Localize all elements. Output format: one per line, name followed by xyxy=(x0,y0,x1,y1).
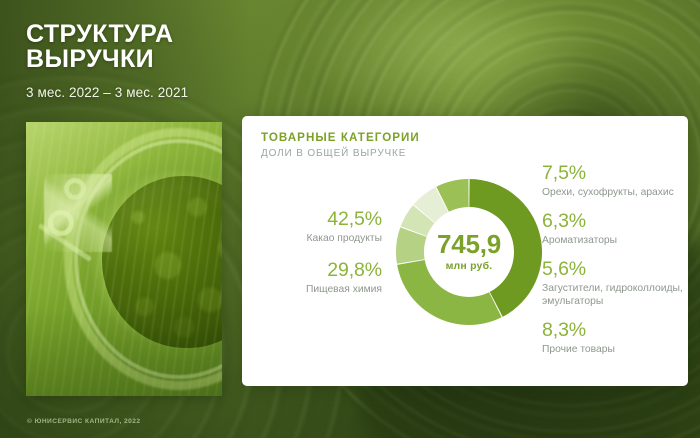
chart-legend-right: 7,5% Орехи, сухофрукты, арахис 6,3% Аром… xyxy=(542,162,692,367)
legend-percent: 8,3% xyxy=(542,319,692,342)
slide-header: СТРУКТУРА ВЫРУЧКИ 3 мес. 2022 – 3 мес. 2… xyxy=(26,22,356,101)
chart-subtitle: ДОЛИ В ОБЩЕЙ ВЫРУЧКЕ xyxy=(261,147,420,160)
chart-card-header: ТОВАРНЫЕ КАТЕГОРИИ ДОЛИ В ОБЩЕЙ ВЫРУЧКЕ xyxy=(261,131,420,160)
legend-item[interactable]: 6,3% Ароматизаторы xyxy=(542,210,692,247)
donut-slice[interactable] xyxy=(397,260,501,325)
legend-percent: 42,5% xyxy=(242,208,382,231)
chart-card: ТОВАРНЫЕ КАТЕГОРИИ ДОЛИ В ОБЩЕЙ ВЫРУЧКЕ … xyxy=(242,116,688,386)
legend-label: Ароматизаторы xyxy=(542,234,692,247)
chart-legend-left: 42,5% Какао продукты 29,8% Пищевая химия xyxy=(242,208,382,310)
page-title-line-2: ВЫРУЧКИ xyxy=(26,47,356,72)
slide: СТРУКТУРА ВЫРУЧКИ 3 мес. 2022 – 3 мес. 2… xyxy=(0,0,700,438)
legend-percent: 29,8% xyxy=(242,259,382,282)
page-title: СТРУКТУРА ВЫРУЧКИ xyxy=(26,22,356,72)
legend-percent: 6,3% xyxy=(542,210,692,233)
legend-label: Пищевая химия xyxy=(242,283,382,296)
legend-percent: 7,5% xyxy=(542,162,692,185)
legend-item[interactable]: 42,5% Какао продукты xyxy=(242,208,382,245)
legend-item[interactable]: 5,6% Загустители, гидроколлоиды, эмульга… xyxy=(542,258,692,308)
legend-percent: 5,6% xyxy=(542,258,692,281)
donut-chart-svg xyxy=(393,176,545,328)
donut-chart[interactable]: 745,9 млн руб. xyxy=(393,176,545,328)
legend-item[interactable]: 8,3% Прочие товары xyxy=(542,319,692,356)
legend-item[interactable]: 29,8% Пищевая химия xyxy=(242,259,382,296)
legend-item[interactable]: 7,5% Орехи, сухофрукты, арахис xyxy=(542,162,692,199)
photo-sheen xyxy=(26,122,222,396)
legend-label: Орехи, сухофрукты, арахис xyxy=(542,186,692,199)
page-title-line-1: СТРУКТУРА xyxy=(26,22,356,47)
chart-title: ТОВАРНЫЕ КАТЕГОРИИ xyxy=(261,131,420,145)
legend-label: Прочие товары xyxy=(542,343,692,356)
legend-label: Какао продукты xyxy=(242,232,382,245)
legend-label: Загустители, гидроколлоиды, эмульгаторы xyxy=(542,282,692,308)
copyright-footer: © ЮНИСЕРВИС КАПИТАЛ, 2022 xyxy=(27,418,141,425)
page-subtitle-period: 3 мес. 2022 – 3 мес. 2021 xyxy=(26,85,356,101)
product-photo xyxy=(26,122,222,396)
